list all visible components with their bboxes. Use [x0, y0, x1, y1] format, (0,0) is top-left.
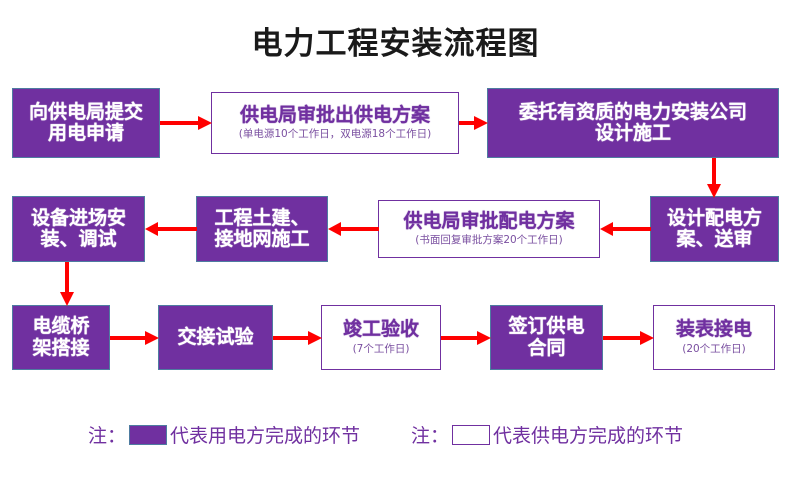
flow-node-label: 签订供电 合同	[508, 316, 584, 359]
flow-node-label: 交接试验	[177, 327, 253, 348]
arrow-n1-to-n2	[160, 113, 212, 133]
flow-node-sublabel: (20个工作日)	[682, 344, 746, 356]
flow-node-sign-supply-contract[interactable]: 签订供电 合同	[490, 305, 603, 370]
flow-node-label: 装表接电	[676, 319, 752, 340]
flow-node-bureau-approve-supply-plan[interactable]: 供电局审批出供电方案 (单电源10个工作日，双电源18个工作日)	[211, 92, 459, 154]
flow-node-design-distribution-plan[interactable]: 设计配电方 案、送审	[650, 196, 779, 262]
flow-node-meter-install-power-on[interactable]: 装表接电 (20个工作日)	[653, 305, 775, 370]
arrow-n8-to-n9	[110, 328, 159, 348]
arrow-n6-to-n7	[145, 219, 197, 239]
flowchart-canvas: 电力工程安装流程图 向供电局提交 用电申请 供电局审批出供电方案 (单电源10个…	[0, 0, 791, 502]
flow-node-sublabel: (单电源10个工作日，双电源18个工作日)	[239, 129, 431, 141]
arrow-n2-to-n3	[459, 113, 488, 133]
legend-customer-side: 注： 代表用电方完成的环节	[88, 421, 360, 448]
flow-node-apply-electricity[interactable]: 向供电局提交 用电申请	[12, 88, 160, 158]
arrow-n5-to-n6	[328, 219, 379, 239]
flow-node-completion-acceptance[interactable]: 竣工验收 (7个工作日)	[321, 305, 441, 370]
arrow-n9-to-n10	[273, 328, 322, 348]
page-title: 电力工程安装流程图	[0, 18, 791, 63]
flow-node-civil-works-grounding[interactable]: 工程土建、 接地网施工	[196, 196, 328, 262]
flow-node-label: 向供电局提交 用电申请	[29, 102, 143, 145]
legend-swatch-outline	[452, 425, 490, 445]
flow-node-label: 委托有资质的电力安装公司 设计施工	[519, 102, 747, 145]
legend-prefix: 注：	[411, 421, 449, 448]
legend-text: 代表供电方完成的环节	[493, 421, 683, 448]
flow-node-label: 供电局审批配电方案	[403, 211, 574, 232]
legend-prefix: 注：	[88, 421, 126, 448]
legend-supplier-side: 注： 代表供电方完成的环节	[411, 421, 683, 448]
flow-node-label: 设备进场安 装、调试	[31, 208, 126, 251]
flow-node-sublabel: (7个工作日)	[353, 344, 410, 356]
flow-node-label: 工程土建、 接地网施工	[214, 208, 309, 251]
flow-node-label: 电缆桥 架搭接	[32, 316, 89, 359]
arrow-n10-to-n11	[441, 328, 491, 348]
arrow-n4-to-n5	[600, 219, 651, 239]
flow-node-label: 竣工验收	[343, 319, 419, 340]
flow-node-label: 设计配电方 案、送审	[667, 208, 762, 251]
flow-node-sublabel: (书面回复审批方案20个工作日)	[415, 235, 563, 247]
flow-node-entrust-qualified-company[interactable]: 委托有资质的电力安装公司 设计施工	[487, 88, 779, 158]
flow-node-equipment-install-debug[interactable]: 设备进场安 装、调试	[12, 196, 145, 262]
arrow-n11-to-n12	[603, 328, 654, 348]
legend-text: 代表用电方完成的环节	[170, 421, 360, 448]
flow-node-cable-tray-lap[interactable]: 电缆桥 架搭接	[12, 305, 110, 370]
arrow-n3-to-n4	[704, 158, 724, 198]
legend-swatch-filled	[129, 425, 167, 445]
flow-node-label: 供电局审批出供电方案	[240, 105, 430, 126]
flow-node-handover-test[interactable]: 交接试验	[158, 305, 273, 370]
arrow-n7-to-n8	[57, 262, 77, 306]
flow-node-bureau-approve-distribution-plan[interactable]: 供电局审批配电方案 (书面回复审批方案20个工作日)	[378, 200, 600, 258]
